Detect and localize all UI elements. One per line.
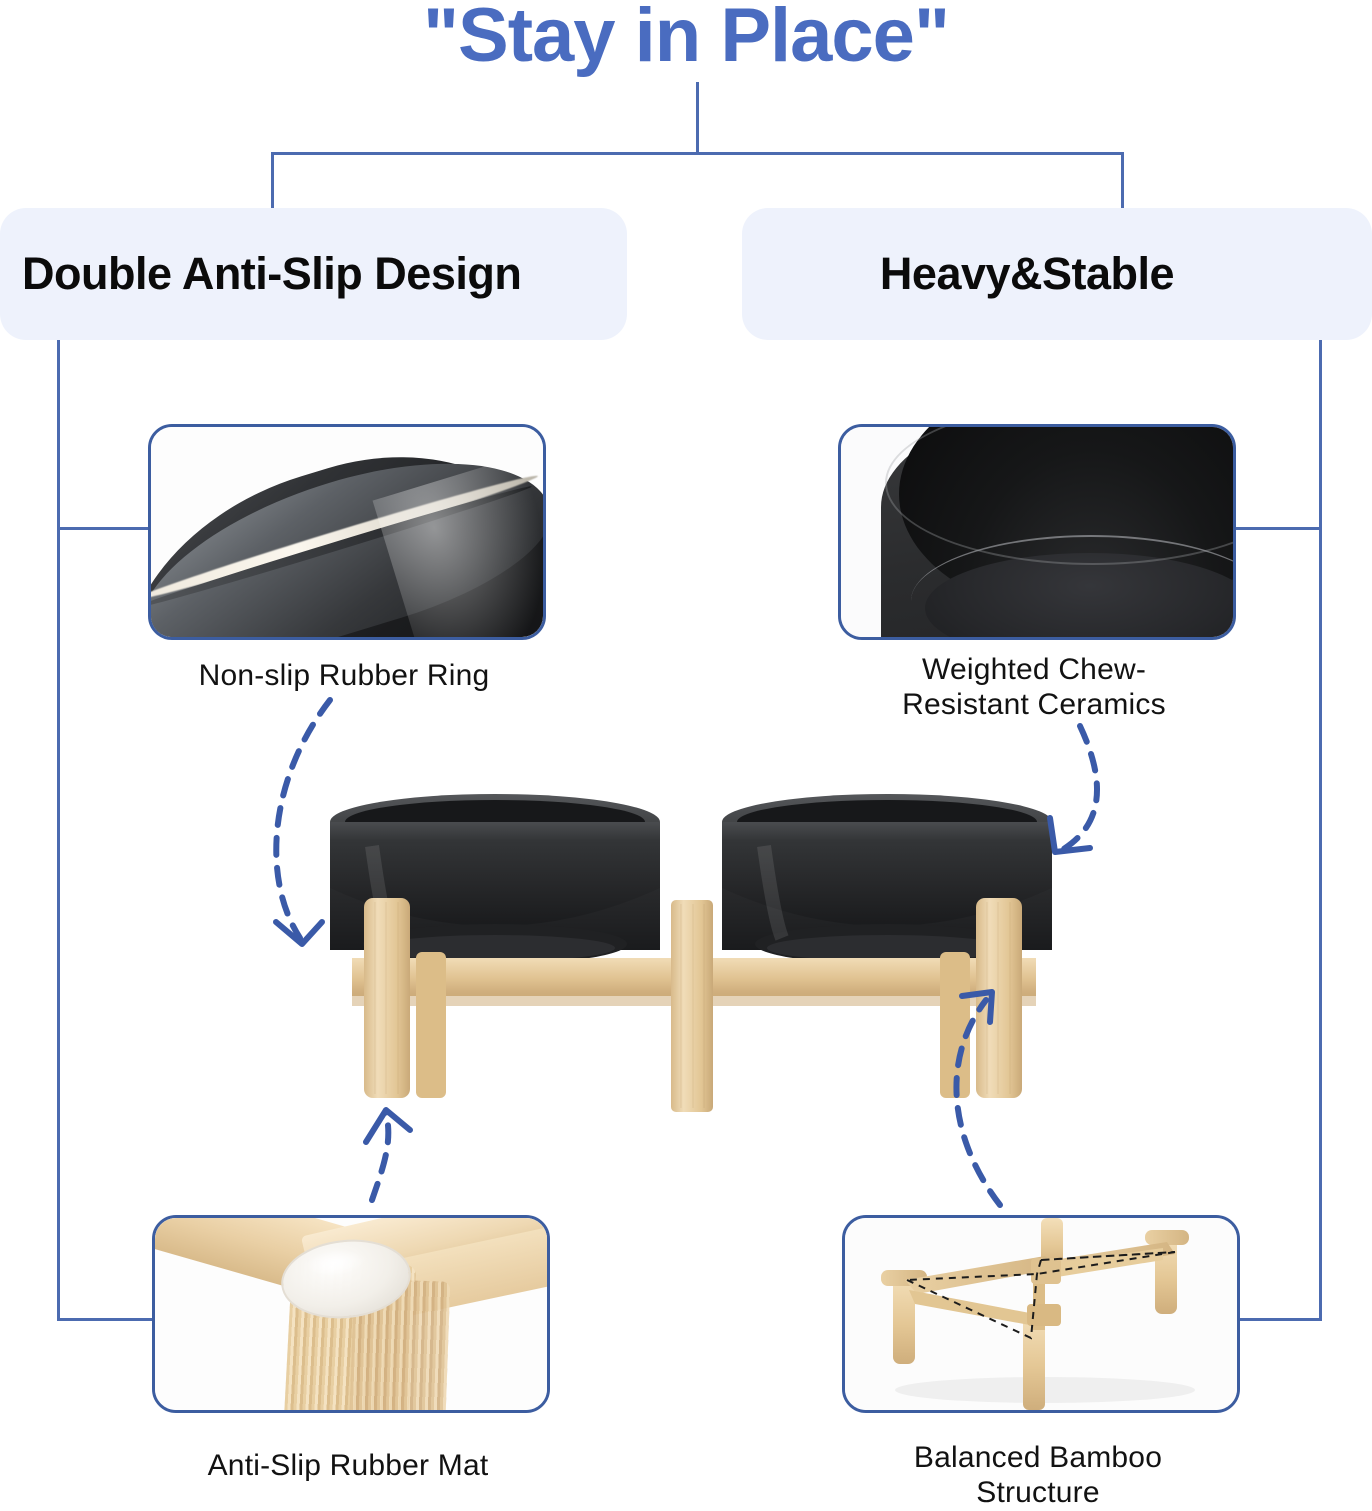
arrow-ceramics-to-bowl-rim bbox=[1062, 726, 1097, 850]
infographic-canvas: "Stay in Place" Double Anti-Slip Design … bbox=[0, 0, 1372, 1500]
arrowhead-structure bbox=[962, 992, 992, 1022]
arrow-ring-to-bowl-base bbox=[276, 700, 330, 938]
callout-arrows bbox=[0, 0, 1372, 1500]
arrow-structure-to-stand-leg bbox=[956, 1000, 1000, 1205]
